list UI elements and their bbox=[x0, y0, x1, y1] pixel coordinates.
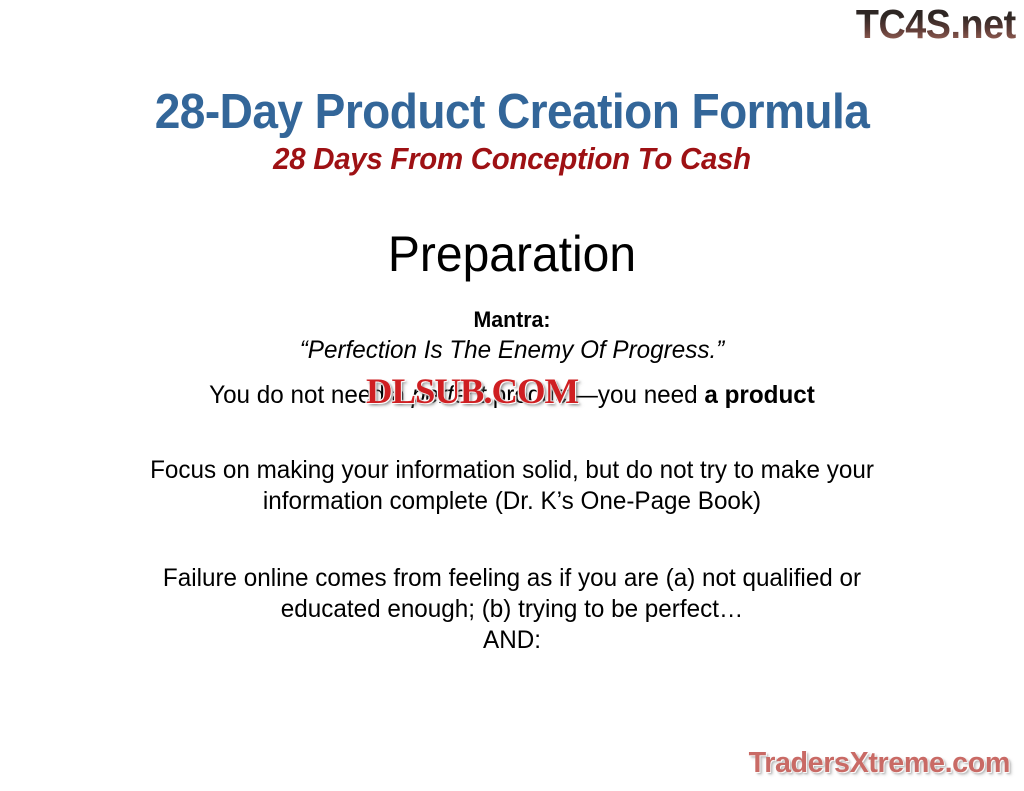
spacer bbox=[62, 517, 962, 563]
title-block: 28-Day Product Creation Formula 28 Days … bbox=[0, 86, 1024, 177]
focus-statement-line-1: Focus on making your information solid, … bbox=[76, 455, 949, 486]
presentation-slide: TC4S.net 28-Day Product Creation Formula… bbox=[0, 0, 1024, 791]
dlsub-watermark: DLSUB.COM bbox=[366, 373, 578, 409]
focus-statement-line-2: information complete (Dr. K’s One-Page B… bbox=[76, 486, 949, 517]
product-statement-strong: a product bbox=[704, 381, 814, 409]
body-content: Mantra: “Perfection Is The Enemy Of Prog… bbox=[62, 306, 962, 656]
slide-subtitle: 28 Days From Conception To Cash bbox=[26, 141, 999, 177]
spacer bbox=[62, 411, 962, 455]
failure-statement-line-1: Failure online comes from feeling as if … bbox=[76, 563, 949, 594]
brand-logo-tc4s: TC4S.net bbox=[856, 2, 1016, 46]
and-connector: AND: bbox=[76, 625, 949, 656]
failure-statement-line-2: educated enough; (b) trying to be perfec… bbox=[76, 594, 949, 625]
mantra-quote: “Perfection Is The Enemy Of Progress.” bbox=[76, 334, 949, 366]
slide-title: 28-Day Product Creation Formula bbox=[31, 86, 994, 139]
mantra-label: Mantra: bbox=[76, 306, 949, 334]
tradersxtreme-watermark: TradersXtreme.com bbox=[749, 747, 1010, 779]
section-heading: Preparation bbox=[20, 226, 1003, 282]
